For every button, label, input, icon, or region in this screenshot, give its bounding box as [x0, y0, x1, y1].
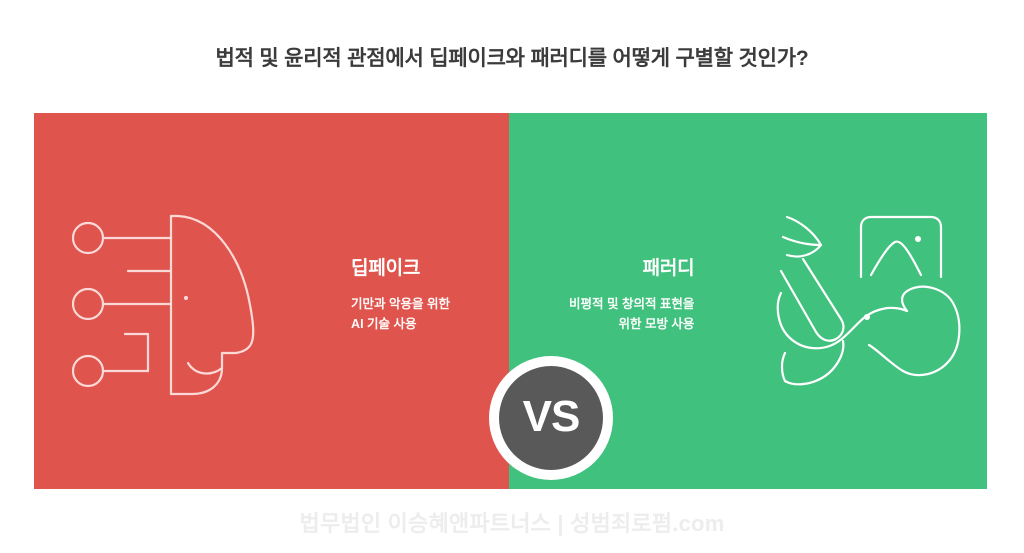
parody-subtitle-line2: 위한 모방 사용	[569, 314, 694, 334]
comparison-board: 딥페이크 기만과 악용을 위한 AI 기술 사용	[34, 113, 987, 489]
infographic-canvas: 법적 및 윤리적 관점에서 딥페이크와 패러디를 어떻게 구별할 것인가?	[0, 0, 1024, 553]
paintbrush-artwork-mask-icon	[773, 201, 973, 416]
deepfake-subtitle-line2: AI 기술 사용	[351, 314, 450, 334]
versus-badge-core: VS	[499, 366, 603, 470]
parody-text-block: 패러디 비평적 및 창의적 표현을 위한 모방 사용	[569, 253, 694, 335]
deepfake-subtitle-line1: 기만과 악용을 위한	[351, 294, 450, 314]
parody-subtitle-line1: 비평적 및 창의적 표현을	[569, 294, 694, 314]
page-title: 법적 및 윤리적 관점에서 딥페이크와 패러디를 어떻게 구별할 것인가?	[0, 42, 1024, 72]
panel-deepfake: 딥페이크 기만과 악용을 위한 AI 기술 사용	[34, 113, 512, 489]
parody-heading: 패러디	[569, 253, 694, 280]
ai-head-profile-icon	[70, 208, 255, 403]
versus-badge: VS	[489, 356, 613, 480]
deepfake-text-block: 딥페이크 기만과 악용을 위한 AI 기술 사용	[351, 253, 450, 335]
footer-watermark: 법무법인 이승혜앤파트너스 | 성범죄로펌.com	[0, 506, 1024, 538]
deepfake-heading: 딥페이크	[351, 253, 450, 280]
versus-label: VS	[523, 395, 580, 439]
